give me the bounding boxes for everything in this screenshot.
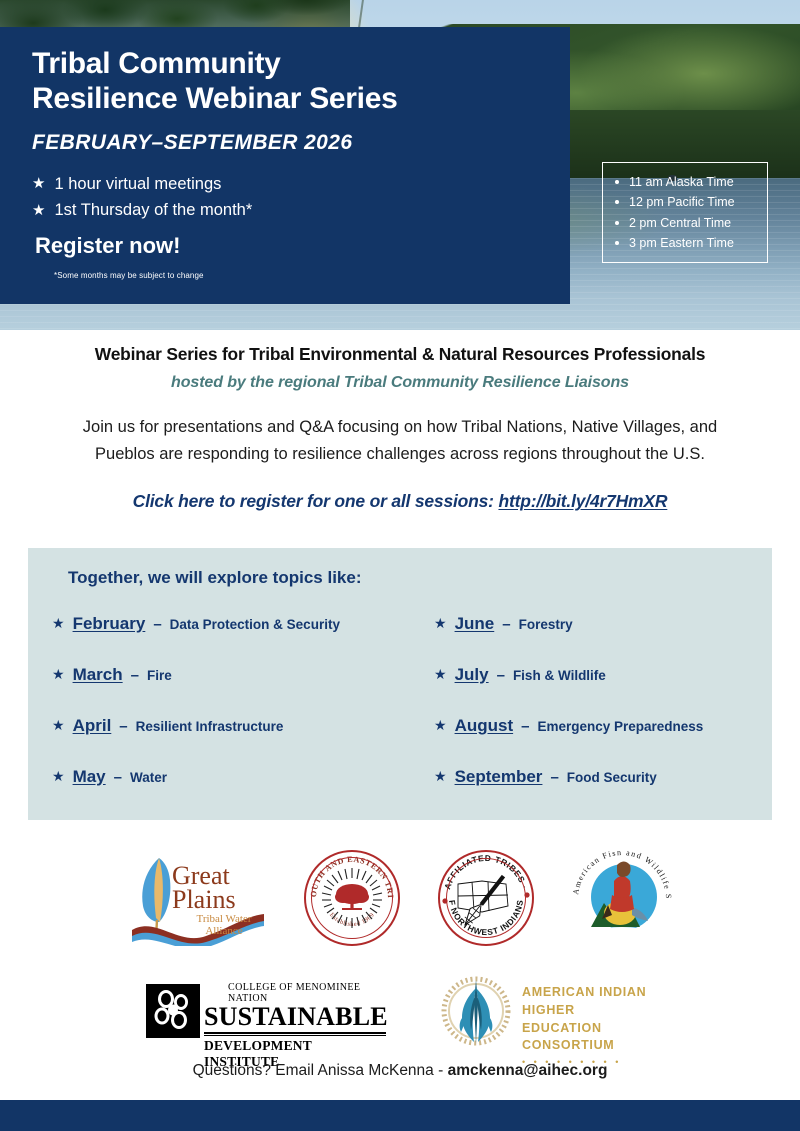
aihec-line-2: HIGHER EDUCATION xyxy=(522,1002,654,1038)
topic-item-june[interactable]: ★ June – Forestry xyxy=(434,614,748,634)
logo-word-plains: Plains xyxy=(172,888,236,912)
topic-dash: – xyxy=(131,667,139,684)
topic-month: July xyxy=(455,665,489,685)
registration-link[interactable]: http://bit.ly/4r7HmXR xyxy=(498,491,667,511)
topic-dash: – xyxy=(114,769,122,786)
topics-title: Together, we will explore topics like: xyxy=(68,568,748,588)
topic-item-april[interactable]: ★ April – Resilient Infrastructure xyxy=(52,716,434,736)
logo-american-indian-higher-education-consortium: AMERICAN INDIAN HIGHER EDUCATION CONSORT… xyxy=(438,972,654,1050)
aihec-feather-circle-icon xyxy=(438,974,514,1048)
topic-month: May xyxy=(73,767,106,787)
aihec-emblem-icon xyxy=(438,974,514,1048)
aihec-line-3: CONSORTIUM xyxy=(522,1037,654,1055)
body-copy: Webinar Series for Tribal Environmental … xyxy=(0,344,800,512)
host-subheadline: hosted by the regional Tribal Community … xyxy=(18,374,782,392)
page-title-line-2: Resilience Webinar Series xyxy=(32,82,540,117)
topic-item-september[interactable]: ★ September – Food Security xyxy=(434,767,748,787)
topic-subject: Emergency Preparedness xyxy=(537,719,703,734)
cmn-emblem-icon xyxy=(146,984,200,1038)
star-icon: ★ xyxy=(434,615,447,632)
star-icon: ★ xyxy=(52,666,65,683)
footer-bar xyxy=(0,1100,800,1131)
topic-month: February xyxy=(73,614,146,634)
topic-item-july[interactable]: ★ July – Fish & Wildlife xyxy=(434,665,748,685)
topic-dash: – xyxy=(521,718,529,735)
partner-logos-row-2: COLLEGE OF MENOMINEE NATION SUSTAINABLE … xyxy=(0,966,800,1056)
logo-affiliated-tribes-of-northwest-indians: AFFILIATED TRIBES · OF NORTHWEST INDIANS… xyxy=(436,848,536,948)
timezone-item: 12 pm Pacific Time xyxy=(613,192,761,212)
star-icon: ★ xyxy=(32,203,45,218)
topic-subject: Forestry xyxy=(519,617,573,632)
page-title-line-1: Tribal Community xyxy=(32,47,540,82)
topic-subject: Food Security xyxy=(567,770,657,785)
timezone-item: 3 pm Eastern Time xyxy=(613,233,761,253)
topic-subject: Resilient Infrastructure xyxy=(136,719,284,734)
topics-grid: ★ February – Data Protection & Security … xyxy=(52,598,748,802)
contact-prompt: Questions? Email Anissa McKenna - xyxy=(193,1062,448,1079)
star-icon: ★ xyxy=(434,768,447,785)
topic-item-march[interactable]: ★ March – Fire xyxy=(52,665,434,685)
cmn-line-1: COLLEGE OF MENOMINEE NATION xyxy=(228,982,386,1004)
topic-item-february[interactable]: ★ February – Data Protection & Security xyxy=(52,614,434,634)
logo-subtitle-line-2: Alliance xyxy=(182,926,266,938)
cmn-line-2: SUSTAINABLE xyxy=(204,1004,386,1030)
topic-item-august[interactable]: ★ August – Emergency Preparedness xyxy=(434,716,748,736)
timezone-list: 11 am Alaska Time 12 pm Pacific Time 2 p… xyxy=(613,172,761,253)
topic-month: March xyxy=(73,665,123,685)
topic-month: September xyxy=(455,767,543,787)
logo-subtitle: Tribal Water Alliance xyxy=(182,914,266,937)
date-range: FEBRUARY–SEPTEMBER 2026 xyxy=(32,131,540,155)
logo-cmn-sustainable-development-institute: COLLEGE OF MENOMINEE NATION SUSTAINABLE … xyxy=(146,980,386,1042)
hero-banner: Tribal Community Resilience Webinar Seri… xyxy=(0,0,800,330)
page-title: Tribal Community Resilience Webinar Seri… xyxy=(32,47,540,117)
contact-line: Questions? Email Anissa McKenna - amcken… xyxy=(0,1062,800,1080)
topic-dash: – xyxy=(550,769,558,786)
hero-bullet-list: ★ 1 hour virtual meetings ★ 1st Thursday… xyxy=(32,171,540,224)
nafws-emblem-icon: Native American Fish and Wildlife Societ… xyxy=(570,851,674,945)
logo-subtitle-line-1: Tribal Water xyxy=(182,914,266,926)
intro-paragraph: Join us for presentations and Q&A focusi… xyxy=(60,414,740,467)
hero-bullet-item: ★ 1 hour virtual meetings xyxy=(32,171,540,197)
audience-headline: Webinar Series for Tribal Environmental … xyxy=(18,344,782,365)
topics-panel: Together, we will explore topics like: ★… xyxy=(28,548,772,820)
star-icon: ★ xyxy=(434,717,447,734)
topic-dash: – xyxy=(119,718,127,735)
logo-inner-ring xyxy=(311,857,393,939)
cmn-wordmark: COLLEGE OF MENOMINEE NATION SUSTAINABLE … xyxy=(204,982,386,1070)
registration-line: Click here to register for one or all se… xyxy=(18,491,782,512)
topic-dash: – xyxy=(497,667,505,684)
hero-text-panel: Tribal Community Resilience Webinar Seri… xyxy=(0,27,570,304)
star-icon: ★ xyxy=(52,615,65,632)
aihec-line-1: AMERICAN INDIAN xyxy=(522,984,654,1002)
register-now-callout: Register now! xyxy=(35,233,540,259)
topic-subject: Data Protection & Security xyxy=(170,617,340,632)
topic-dash: – xyxy=(502,616,510,633)
star-icon: ★ xyxy=(434,666,447,683)
contact-email[interactable]: amckenna@aihec.org xyxy=(448,1062,608,1079)
aihec-wordmark: AMERICAN INDIAN HIGHER EDUCATION CONSORT… xyxy=(522,984,654,1067)
timezone-item: 11 am Alaska Time xyxy=(613,172,761,192)
topic-subject: Fish & Wildlife xyxy=(513,668,606,683)
cmn-divider xyxy=(204,1032,386,1036)
logo-united-south-and-eastern-tribes: UNITED SOUTH AND EASTERN TRIBES, INC. Es… xyxy=(302,848,402,948)
topic-dash: – xyxy=(153,616,161,633)
topic-subject: Water xyxy=(130,770,167,785)
logo-native-american-fish-and-wildlife-society: Native American Fish and Wildlife Societ… xyxy=(570,851,674,945)
topic-item-may[interactable]: ★ May – Water xyxy=(52,767,434,787)
star-icon: ★ xyxy=(52,768,65,785)
partner-logos-row-1: Great Plains Tribal Water Alliance UNITE… xyxy=(0,842,800,954)
topic-month: June xyxy=(455,614,495,634)
timezone-box: 11 am Alaska Time 12 pm Pacific Time 2 p… xyxy=(602,162,768,263)
registration-prompt: Click here to register for one or all se… xyxy=(133,491,499,511)
star-icon: ★ xyxy=(32,176,45,191)
cmn-faces-icon xyxy=(146,984,200,1038)
logo-inner-ring xyxy=(446,858,526,938)
topic-month: August xyxy=(455,716,514,736)
logo-great-plains-tribal-water-alliance: Great Plains Tribal Water Alliance xyxy=(126,850,268,946)
topic-subject: Fire xyxy=(147,668,172,683)
star-icon: ★ xyxy=(52,717,65,734)
hero-bullet-label: 1 hour virtual meetings xyxy=(54,171,221,197)
logo-wordmark: Great Plains xyxy=(172,864,236,913)
hero-bullet-label: 1st Thursday of the month* xyxy=(54,197,252,223)
schedule-footnote: *Some months may be subject to change xyxy=(54,271,540,280)
timezone-item: 2 pm Central Time xyxy=(613,213,761,233)
hero-bullet-item: ★ 1st Thursday of the month* xyxy=(32,197,540,223)
topic-month: April xyxy=(73,716,112,736)
